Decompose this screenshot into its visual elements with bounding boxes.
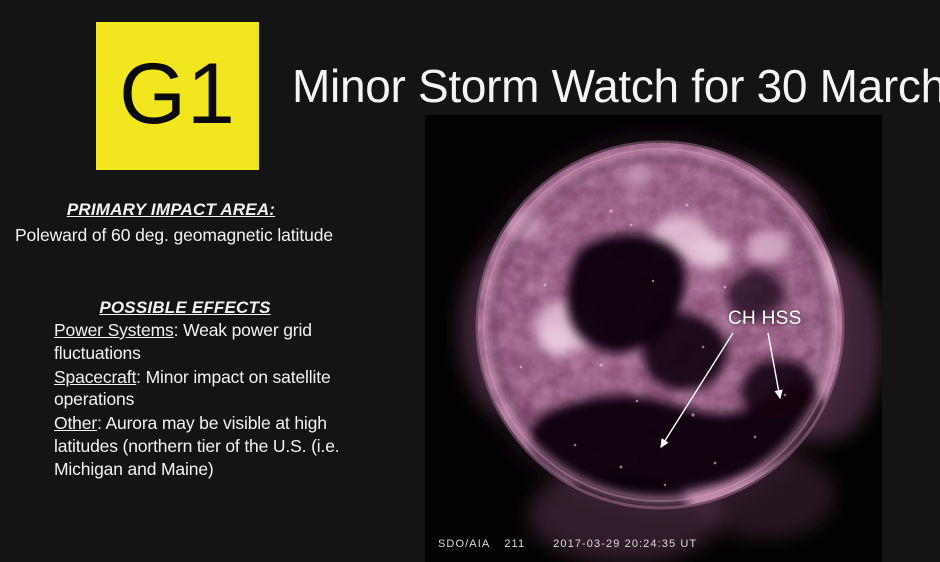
sun-disk-image [425, 115, 882, 562]
effect-item-other: Other: Aurora may be visible at high lat… [54, 412, 384, 480]
primary-impact-body: Poleward of 60 deg. geomagnetic latitude [0, 225, 400, 246]
ch-hss-annotation-label: CH HSS [728, 308, 802, 330]
slide-title: Minor Storm Watch for 30 March [292, 62, 940, 110]
caption-wavelength: 211 [504, 538, 525, 550]
storm-scale-badge: G1 [96, 22, 259, 170]
possible-effects-heading: POSSIBLE EFFECTS [54, 298, 384, 318]
caption-instrument: SDO/AIA [438, 538, 490, 550]
primary-impact-section: PRIMARY IMPACT AREA: Poleward of 60 deg.… [0, 200, 400, 246]
storm-scale-level-label: G1 [119, 51, 236, 137]
effect-label-other: Other [54, 413, 97, 433]
effect-label-spacecraft: Spacecraft [54, 367, 136, 387]
primary-impact-heading: PRIMARY IMPACT AREA: [0, 200, 400, 220]
effect-item-power-systems: Power Systems: Weak power grid fluctuati… [54, 319, 384, 365]
effect-item-spacecraft: Spacecraft: Minor impact on satellite op… [54, 366, 384, 412]
effect-separator: : [174, 320, 183, 340]
solar-image-panel: CH HSS SDO/AIA2112017-03-29 20:24:35 UT [425, 115, 882, 562]
caption-datetime: 2017-03-29 20:24:35 UT [553, 538, 697, 550]
solar-image-caption: SDO/AIA2112017-03-29 20:24:35 UT [438, 538, 697, 550]
effect-label-power-systems: Power Systems [54, 320, 174, 340]
possible-effects-section: POSSIBLE EFFECTS Power Systems: Weak pow… [54, 298, 384, 480]
effect-separator: : [97, 413, 105, 433]
presentation-slide: G1 Minor Storm Watch for 30 March PRIMAR… [0, 0, 940, 562]
effect-separator: : [136, 367, 145, 387]
